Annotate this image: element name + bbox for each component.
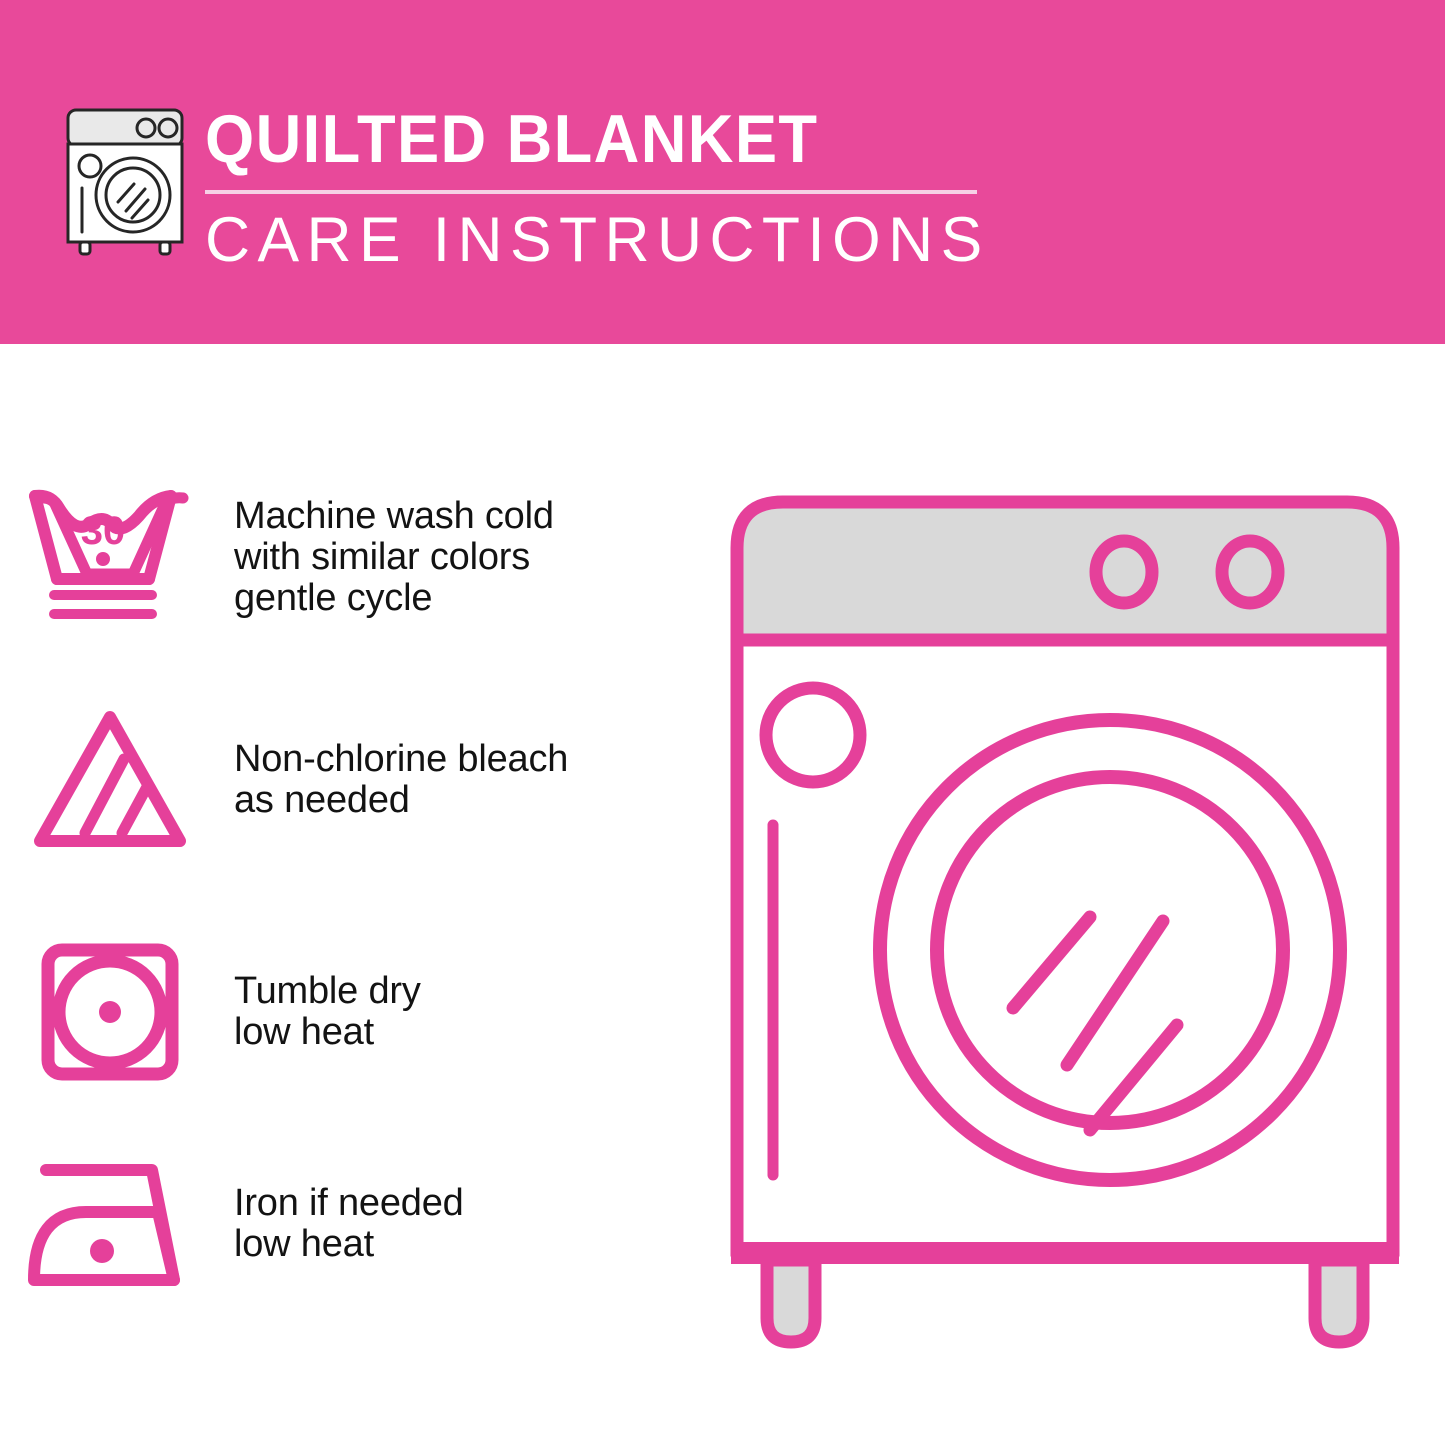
- wash-tub-30-gentle-icon: 30: [0, 482, 220, 632]
- iron-low-heat-icon: [0, 1154, 220, 1294]
- title-divider: [205, 190, 977, 194]
- care-line: as needed: [234, 780, 568, 821]
- care-line: gentle cycle: [234, 578, 554, 619]
- page-title-primary: QUILTED BLANKET: [205, 100, 940, 178]
- care-line: low heat: [234, 1224, 464, 1265]
- header-title-block: QUILTED BLANKET CARE INSTRUCTIONS: [205, 100, 995, 276]
- care-row-machine-wash: 30 Machine wash cold with similar colors…: [0, 472, 700, 642]
- care-text-iron: Iron if needed low heat: [220, 1183, 464, 1265]
- care-line: Iron if needed: [234, 1183, 464, 1224]
- washing-machine-illustration: [715, 480, 1415, 1360]
- non-chlorine-bleach-triangle-icon: [0, 705, 220, 855]
- care-instruction-list: 30 Machine wash cold with similar colors…: [0, 344, 700, 1445]
- washing-machine-icon: [60, 104, 190, 256]
- svg-text:30: 30: [81, 509, 126, 553]
- care-line: Tumble dry: [234, 971, 421, 1012]
- care-text-tumble-dry: Tumble dry low heat: [220, 971, 421, 1053]
- machine-leg-right: [1315, 1260, 1363, 1342]
- care-line: Machine wash cold: [234, 496, 554, 537]
- care-line: low heat: [234, 1012, 421, 1053]
- tumble-dry-low-icon: [0, 937, 220, 1087]
- care-text-bleach: Non-chlorine bleach as needed: [220, 739, 568, 821]
- care-row-iron: Iron if needed low heat: [0, 1144, 700, 1304]
- care-line: Non-chlorine bleach: [234, 739, 568, 780]
- header-banner: QUILTED BLANKET CARE INSTRUCTIONS: [0, 0, 1445, 344]
- machine-control-panel: [737, 502, 1393, 640]
- machine-base-bar: [731, 1242, 1399, 1264]
- care-row-bleach: Non-chlorine bleach as needed: [0, 700, 700, 860]
- care-row-tumble-dry: Tumble dry low heat: [0, 932, 700, 1092]
- care-text-machine-wash: Machine wash cold with similar colors ge…: [220, 496, 554, 619]
- machine-leg-left: [767, 1260, 815, 1342]
- care-line: with similar colors: [234, 537, 554, 578]
- page-title-secondary: CARE INSTRUCTIONS: [205, 204, 987, 276]
